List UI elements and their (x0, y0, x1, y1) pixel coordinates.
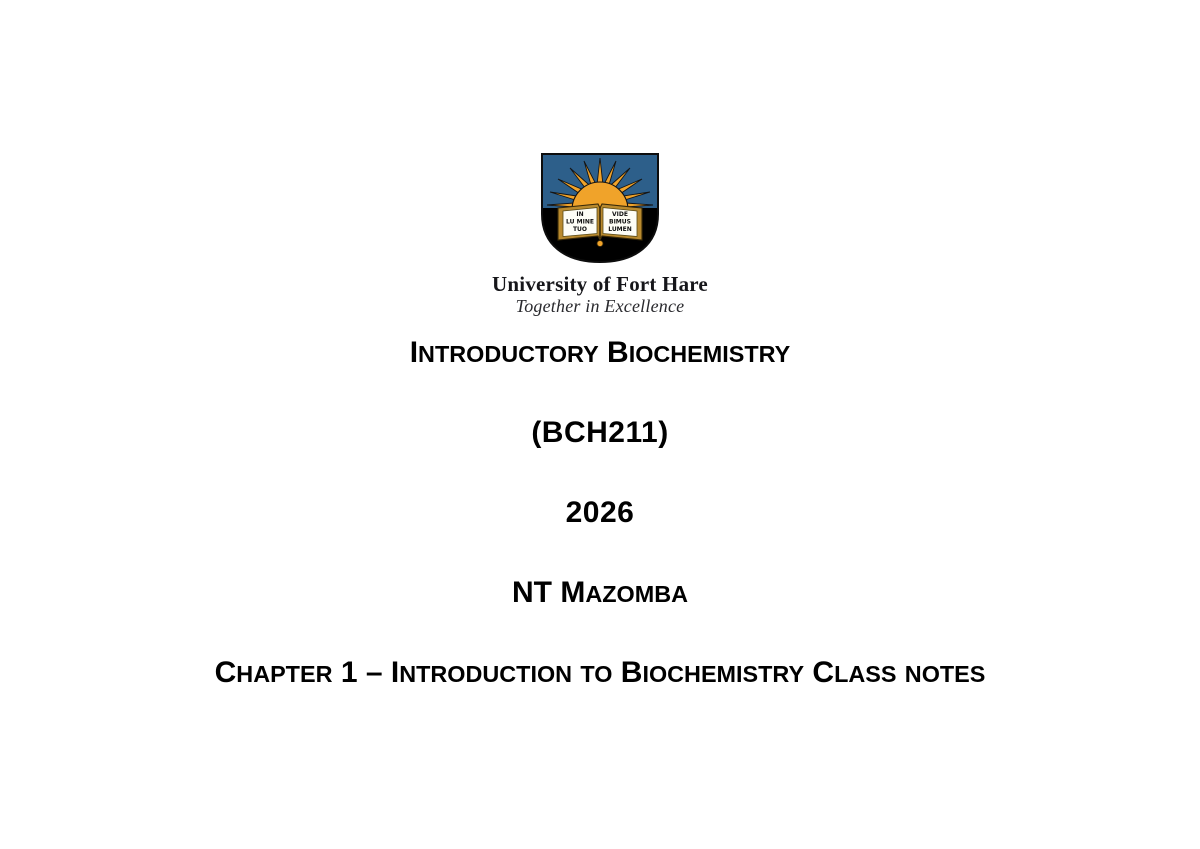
document-page: IN LU MINE TUO VIDE BIMUS LUMEN Universi… (0, 0, 1200, 849)
chapter-class-lead: C (812, 656, 834, 689)
university-of-fort-hare-crest-icon: IN LU MINE TUO VIDE BIMUS LUMEN (538, 152, 662, 264)
chapter-word-lead: C (215, 656, 237, 689)
chapter-biochem-lead: B (621, 656, 643, 689)
chapter-intro-lead: I (391, 656, 399, 689)
chapter-notes-word: notes (905, 661, 986, 687)
course-title-rest-2: iochemistry (629, 341, 791, 367)
university-name: University of Fort Hare (0, 273, 1200, 295)
university-logo-block: IN LU MINE TUO VIDE BIMUS LUMEN Universi… (0, 152, 1200, 317)
author-surname-lead: M (560, 576, 585, 609)
chapter-class-rest: lass (834, 661, 896, 687)
chapter-number: 1 (341, 656, 358, 689)
chapter-to-word: to (580, 661, 612, 687)
svg-text:VIDE: VIDE (612, 211, 628, 218)
author-initials: NT (512, 576, 552, 609)
svg-text:IN: IN (576, 211, 583, 218)
course-title-line: Introductory Biochemistry (0, 338, 1200, 368)
course-title-lead-1: I (410, 336, 418, 369)
svg-text:LU MINE: LU MINE (566, 219, 594, 226)
chapter-word-rest: hapter (236, 661, 332, 687)
year-line: 2026 (0, 498, 1200, 528)
svg-text:LUMEN: LUMEN (608, 226, 632, 233)
svg-text:TUO: TUO (573, 226, 587, 233)
svg-text:BIMUS: BIMUS (609, 219, 631, 226)
chapter-biochem-rest: iochemistry (642, 661, 804, 687)
author-surname-rest: azomba (585, 581, 688, 607)
title-block: Introductory Biochemistry (BCH211) 2026 … (0, 338, 1200, 688)
university-motto: Together in Excellence (0, 297, 1200, 317)
chapter-line: Chapter 1 – Introduction to Biochemistry… (0, 658, 1200, 688)
author-line: NT Mazomba (0, 578, 1200, 608)
course-title-lead-2: B (607, 336, 629, 369)
course-code-line: (BCH211) (0, 418, 1200, 448)
chapter-intro-rest: ntroduction (399, 661, 572, 687)
course-title-rest-1: ntroductory (418, 341, 599, 367)
chapter-dash: – (366, 656, 383, 689)
